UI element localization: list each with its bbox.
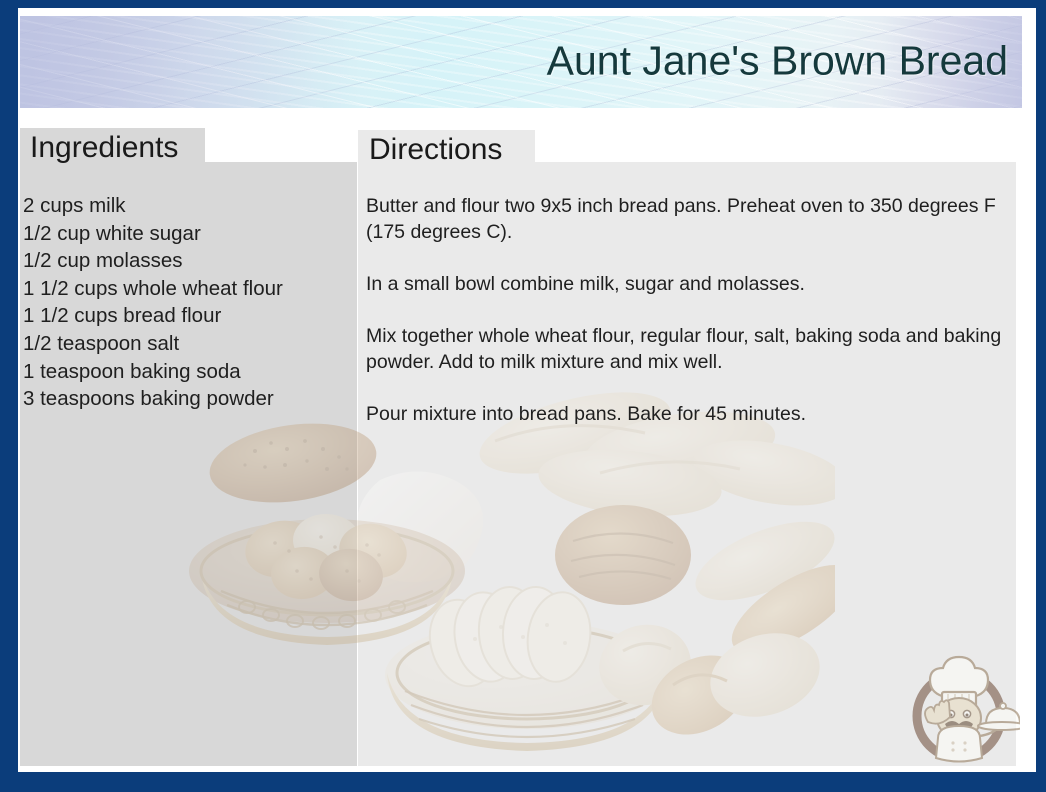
- direction-step: Mix together whole wheat flour, regular …: [366, 323, 1008, 375]
- list-item: 1/2 cup molasses: [23, 247, 353, 275]
- chef-logo-icon: [898, 644, 1020, 766]
- tab-directions-label: Directions: [369, 135, 502, 165]
- list-item: 1 1/2 cups bread flour: [23, 302, 353, 330]
- list-item: 1/2 cup white sugar: [23, 220, 353, 248]
- list-item: 1/2 teaspoon salt: [23, 330, 353, 358]
- tab-directions[interactable]: Directions: [358, 130, 535, 170]
- header-banner: Aunt Jane's Brown Bread: [20, 16, 1022, 108]
- banner-left-gradient: [20, 16, 361, 108]
- direction-step: Butter and flour two 9x5 inch bread pans…: [366, 193, 1008, 245]
- list-item: 3 teaspoons baking powder: [23, 385, 353, 413]
- list-item: 2 cups milk: [23, 192, 353, 220]
- directions-text: Butter and flour two 9x5 inch bread pans…: [366, 193, 1008, 427]
- list-item: 1 1/2 cups whole wheat flour: [23, 275, 353, 303]
- list-item: 1 teaspoon baking soda: [23, 358, 353, 386]
- direction-step: Pour mixture into bread pans. Bake for 4…: [366, 401, 1008, 427]
- tab-ingredients-label: Ingredients: [30, 133, 178, 163]
- recipe-card-page: Aunt Jane's Brown Bread Ingredients Dire…: [0, 0, 1046, 792]
- ingredients-list: 2 cups milk 1/2 cup white sugar 1/2 cup …: [23, 192, 353, 413]
- page-title: Aunt Jane's Brown Bread: [547, 38, 1008, 85]
- tab-ingredients[interactable]: Ingredients: [20, 128, 205, 168]
- direction-step: In a small bowl combine milk, sugar and …: [366, 271, 1008, 297]
